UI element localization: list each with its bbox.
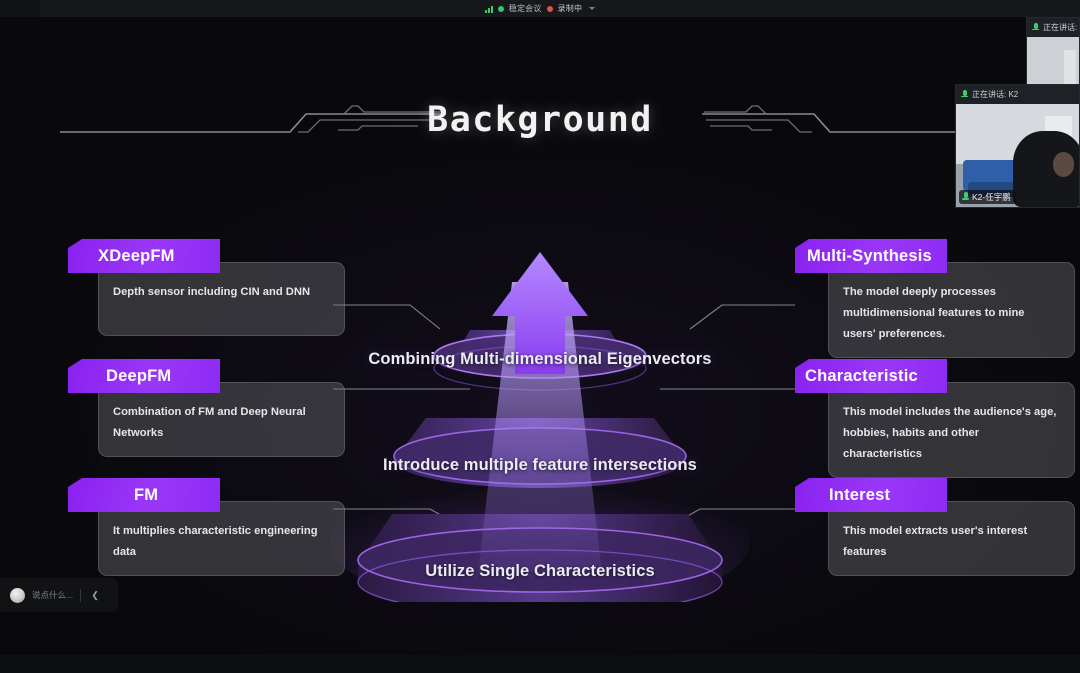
- card-tag-label: FM: [68, 478, 220, 512]
- pyramid-diagram: Combining Multi-dimensional Eigenvectors…: [330, 242, 750, 602]
- chevron-down-icon[interactable]: [589, 7, 595, 10]
- card-description: It multiplies characteristic engineering…: [98, 501, 345, 576]
- microphone-icon: [961, 90, 968, 100]
- pyramid-label-middle: Introduce multiple feature intersections: [330, 454, 750, 477]
- card-description: The model deeply processes multidimensio…: [828, 262, 1075, 358]
- slide-title-row: Background: [0, 89, 1080, 151]
- card-fm[interactable]: FM It multiplies characteristic engineer…: [62, 478, 309, 576]
- card-description: This model extracts user's interest feat…: [828, 501, 1075, 576]
- card-tag-label: Interest: [795, 478, 947, 512]
- card-tag-label: Characteristic: [795, 359, 947, 393]
- card-tag-label: Multi-Synthesis: [795, 239, 947, 273]
- video-person-head: [1053, 152, 1074, 176]
- card-description: Depth sensor including CIN and DNN: [98, 262, 345, 336]
- video-header-secondary: 正在讲话: K2: [1027, 18, 1079, 37]
- video-speaking-label: 正在讲话: K2: [1043, 22, 1079, 33]
- chevron-left-icon[interactable]: ❮: [88, 583, 102, 607]
- pyramid-label-bottom: Utilize Single Characteristics: [330, 560, 750, 583]
- signal-bars-icon: [485, 5, 493, 13]
- topbar-left-shade: [0, 0, 40, 17]
- meeting-status-bar: 稳定会议 录制中: [0, 0, 1080, 17]
- video-participant-name: K2-任宇鹏: [972, 191, 1011, 203]
- red-dot-icon: [547, 6, 553, 12]
- recording-status-label: 录制中: [558, 3, 583, 14]
- video-person-silhouette: [1013, 131, 1079, 207]
- video-tile-primary[interactable]: 正在讲话: K2 K2-任宇鹏: [955, 84, 1080, 208]
- microphone-icon: [1032, 23, 1039, 33]
- card-characteristic[interactable]: Characteristic This model includes the a…: [795, 359, 1042, 478]
- user-avatar-icon: [10, 588, 25, 603]
- microphone-icon: [962, 192, 969, 202]
- video-speaking-label: 正在讲话: K2: [972, 89, 1018, 100]
- page-title: Background: [401, 100, 679, 140]
- card-tag-label: XDeepFM: [68, 239, 220, 273]
- card-description: Combination of FM and Deep Neural Networ…: [98, 382, 345, 457]
- video-feed-primary: K2-任宇鹏: [956, 104, 1079, 207]
- chat-input-strip[interactable]: 说点什么... ❮: [0, 578, 118, 612]
- screen-root: 稳定会议 录制中: [0, 0, 1080, 673]
- card-xdeepfm[interactable]: XDeepFM Depth sensor including CIN and D…: [62, 239, 309, 336]
- video-header-primary: 正在讲话: K2: [956, 85, 1079, 104]
- divider: [80, 589, 81, 602]
- card-deepfm[interactable]: DeepFM Combination of FM and Deep Neural…: [62, 359, 309, 457]
- network-status-label: 稳定会议: [509, 3, 542, 14]
- chat-input[interactable]: 说点什么...: [32, 589, 73, 601]
- pyramid-label-top: Combining Multi-dimensional Eigenvectors: [330, 348, 750, 371]
- slide-stage: Background: [0, 17, 1080, 655]
- card-description: This model includes the audience's age, …: [828, 382, 1075, 478]
- video-name-badge-primary: K2-任宇鹏: [959, 190, 1016, 204]
- card-tag-label: DeepFM: [68, 359, 220, 393]
- card-interest[interactable]: Interest This model extracts user's inte…: [795, 478, 1042, 576]
- bottom-bar: [0, 655, 1080, 673]
- green-dot-icon: [498, 6, 504, 12]
- card-multi-synthesis[interactable]: Multi-Synthesis The model deeply process…: [795, 239, 1042, 358]
